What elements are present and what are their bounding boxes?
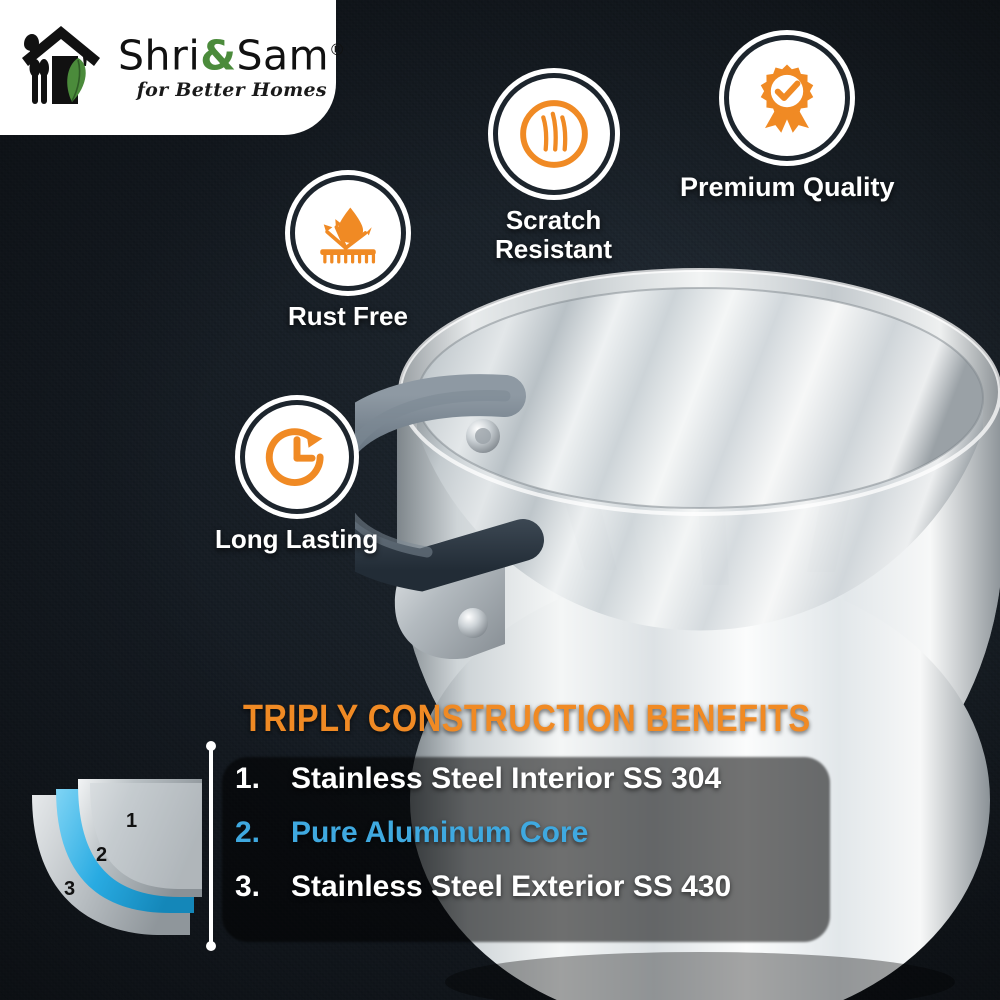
feature-label: Scratch Resistant	[495, 206, 612, 264]
section-divider	[206, 740, 216, 952]
feature-label: Premium Quality	[680, 172, 895, 202]
brand-ampersand: &	[200, 31, 236, 79]
benefit-text: Stainless Steel Interior SS 304	[291, 762, 721, 796]
feature-rust-free[interactable]: Rust Free	[288, 180, 408, 331]
brand-name: Shri&Sam®	[118, 30, 346, 76]
benefits-title: TRIPLY CONSTRUCTION BENEFITS	[243, 698, 811, 741]
benefits-section: TRIPLY CONSTRUCTION BENEFITS 1. Stainles…	[0, 690, 1000, 1000]
water-droplet-repel-icon	[311, 196, 385, 270]
scratch-resistant-badge	[498, 78, 610, 190]
feature-label: Rust Free	[288, 302, 408, 331]
benefits-list: 1. Stainless Steel Interior SS 304 2. Pu…	[235, 762, 835, 904]
list-item: 1. Stainless Steel Interior SS 304	[235, 762, 835, 796]
feature-scratch-resistant[interactable]: Scratch Resistant	[495, 78, 612, 264]
brand-logo-panel[interactable]: Shri&Sam® for Better Homes	[0, 0, 336, 135]
feature-label: Long Lasting	[215, 525, 378, 554]
feature-long-lasting[interactable]: Long Lasting	[215, 405, 378, 554]
brand-tagline: for Better Homes	[118, 79, 346, 101]
benefit-number: 2.	[235, 816, 291, 850]
rust-free-badge	[295, 180, 401, 286]
feature-label-line2: Resistant	[495, 234, 612, 264]
benefit-text: Pure Aluminum Core	[291, 816, 588, 850]
brand-wordmark: Shri&Sam® for Better Homes	[118, 30, 346, 102]
list-item: 2. Pure Aluminum Core	[235, 816, 835, 850]
benefit-text: Stainless Steel Exterior SS 430	[291, 870, 731, 904]
brand-name-part1: Shri	[118, 31, 200, 79]
award-ribbon-icon	[750, 61, 824, 135]
feature-premium-quality[interactable]: Premium Quality	[680, 40, 895, 202]
house-with-utensils-icon	[16, 18, 112, 115]
clock-refresh-icon	[260, 420, 334, 494]
scratch-marks-icon	[516, 96, 592, 172]
benefit-number: 1.	[235, 762, 291, 796]
rivet-lower	[458, 608, 488, 638]
long-lasting-badge	[245, 405, 349, 509]
premium-quality-badge	[729, 40, 845, 156]
product-feature-poster: Premium Quality Scratch Resistant	[0, 0, 1000, 1000]
list-item: 3. Stainless Steel Exterior SS 430	[235, 870, 835, 904]
brand-name-part2: Sam	[237, 31, 330, 79]
feature-label-line1: Scratch	[506, 205, 601, 235]
benefit-number: 3.	[235, 870, 291, 904]
registered-mark: ®	[329, 40, 346, 59]
